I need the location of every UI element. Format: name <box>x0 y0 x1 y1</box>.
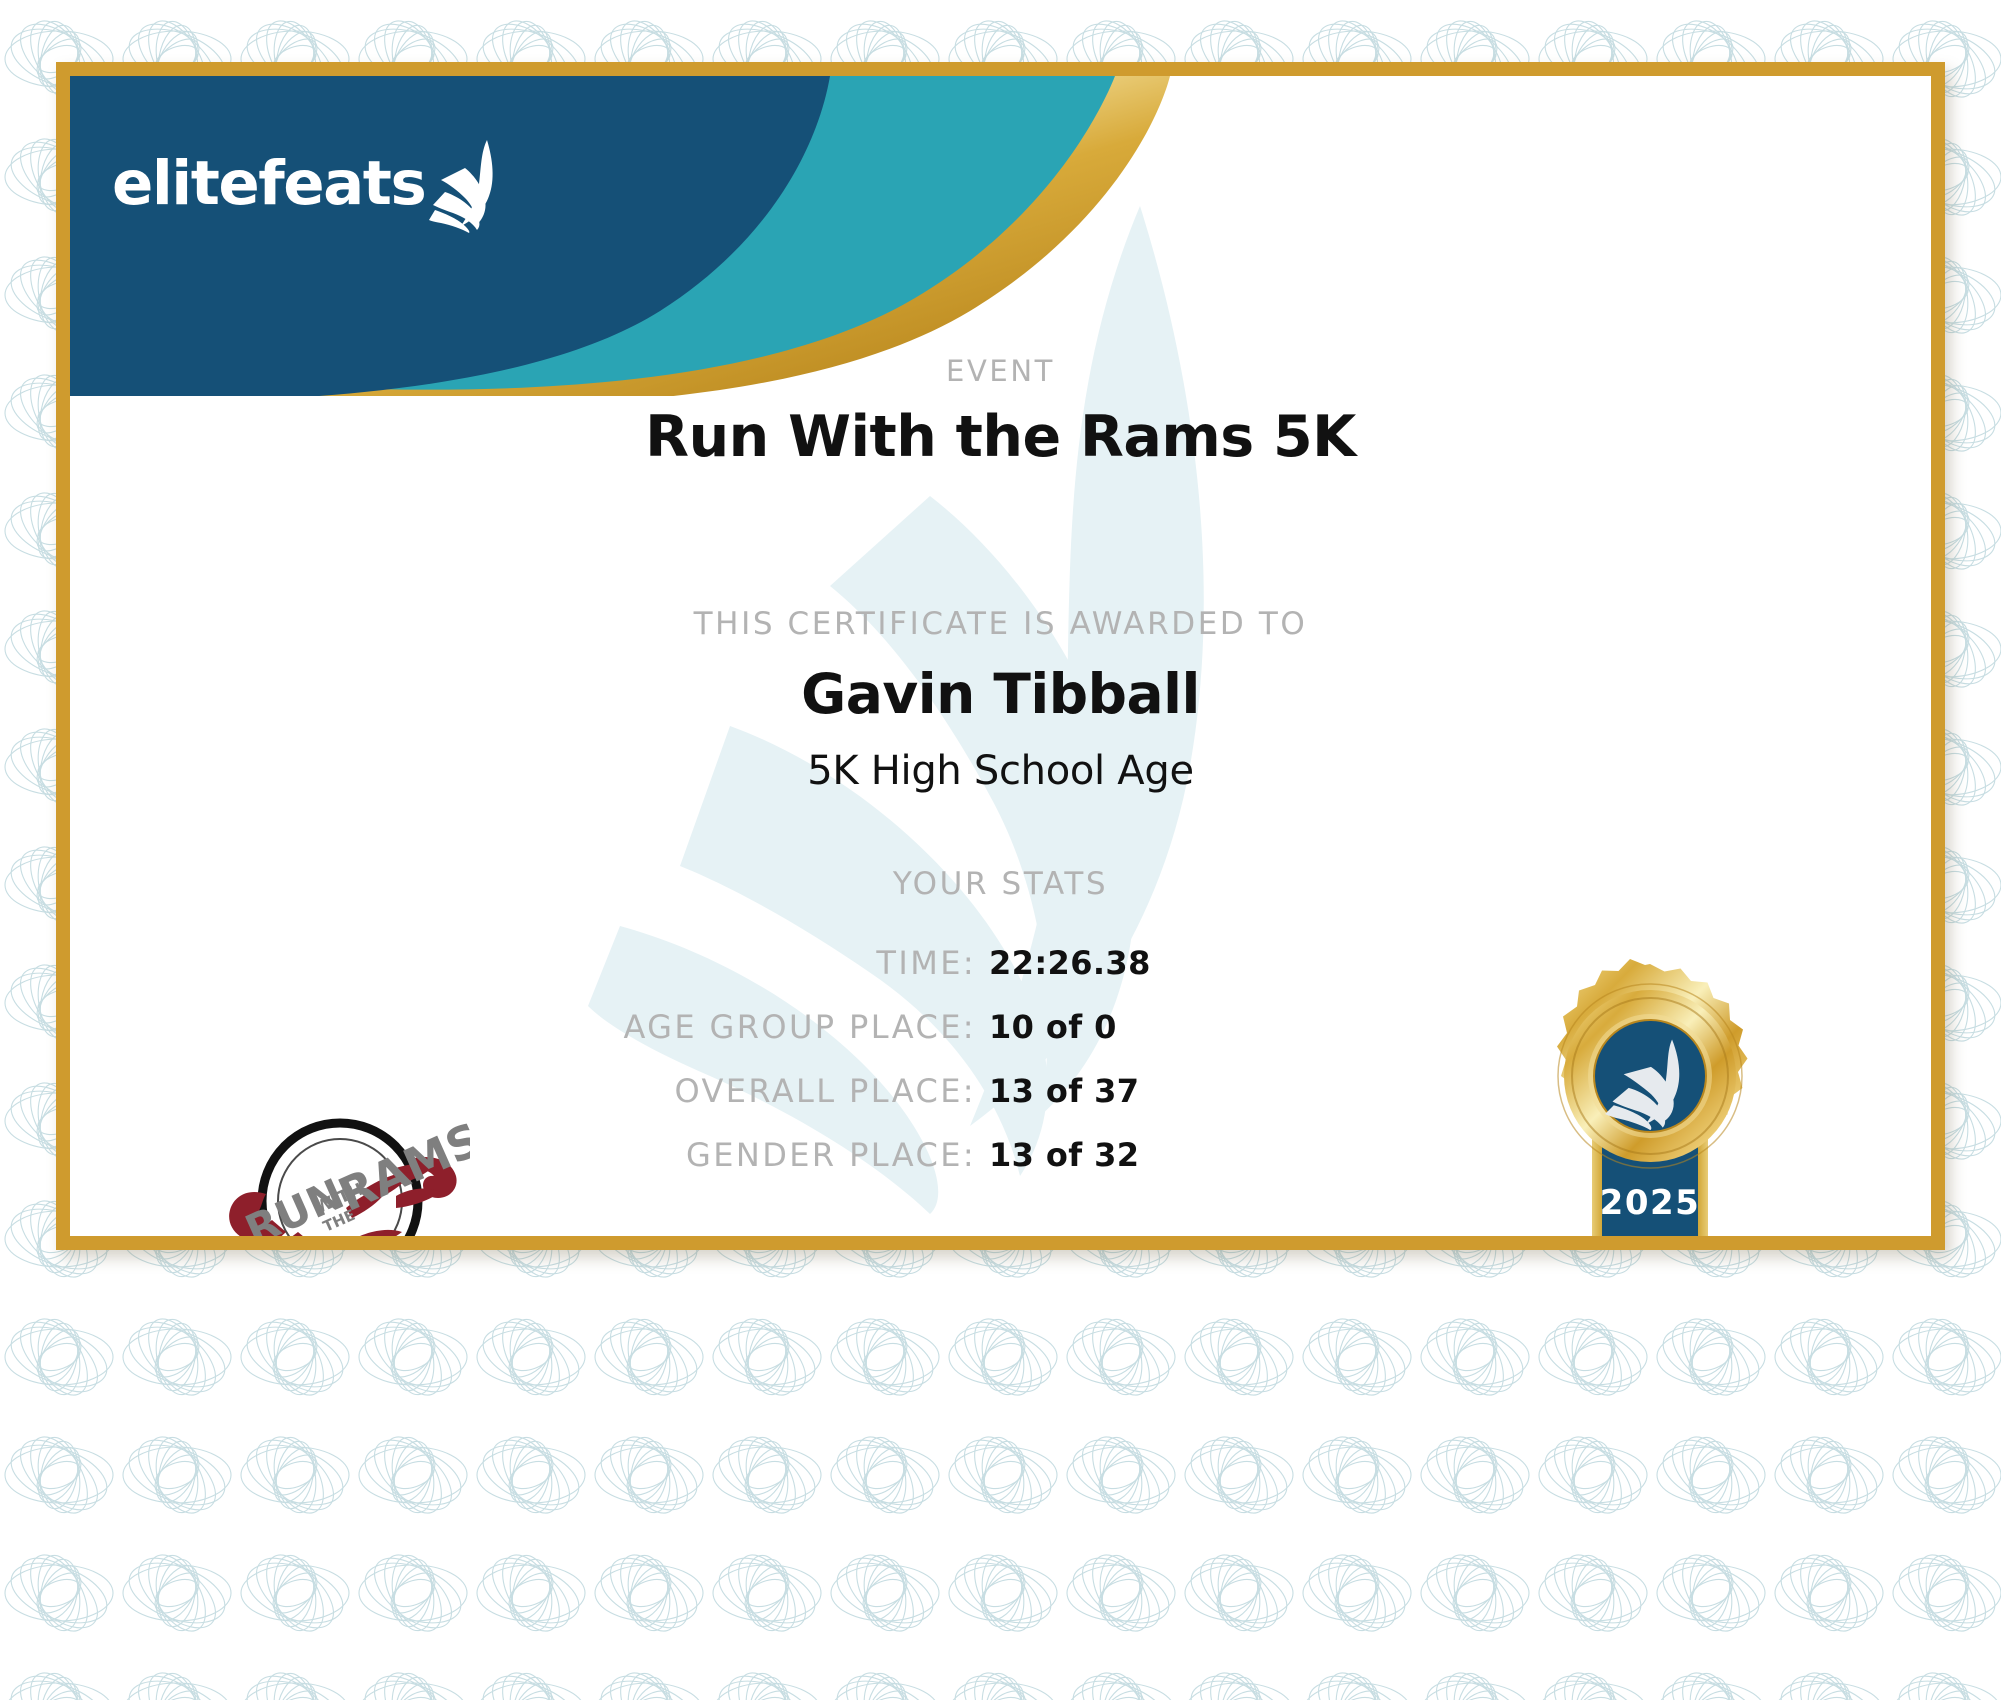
stat-value: 10 of 0 <box>989 1008 1117 1046</box>
certificate-sheet: elitefeats EVENT Run With the Rams 5K TH… <box>56 62 1945 1250</box>
elitefeats-logo: elitefeats <box>112 138 507 214</box>
badge-year: 2025 <box>1600 1183 1701 1223</box>
stat-value: 22:26.38 <box>989 944 1151 982</box>
recipient-name: Gavin Tibball <box>70 662 1931 726</box>
stats-label: YOUR STATS <box>70 866 1931 902</box>
winged-foot-icon <box>429 138 507 234</box>
event-label: EVENT <box>70 354 1931 388</box>
event-name: Run With the Rams 5K <box>70 404 1931 470</box>
stat-value: 13 of 32 <box>989 1136 1139 1174</box>
stat-value: 13 of 37 <box>989 1072 1139 1110</box>
finisher-medal-icon: 2025 <box>1500 956 1800 1250</box>
finisher-badge: 2025 FINISHER CERTIFIC <box>1500 956 1800 1250</box>
run-with-the-rams-logo: RUN WITH THE RAMS 5K <box>200 1096 470 1250</box>
stat-label: AGE GROUP PLACE: <box>70 1008 976 1046</box>
stat-label: TIME: <box>70 944 976 982</box>
race-logo-word-5k: 5K <box>349 1236 398 1250</box>
elitefeats-wordmark: elitefeats <box>112 153 425 214</box>
awarded-to-label: THIS CERTIFICATE IS AWARDED TO <box>70 606 1931 642</box>
division-name: 5K High School Age <box>70 748 1931 794</box>
